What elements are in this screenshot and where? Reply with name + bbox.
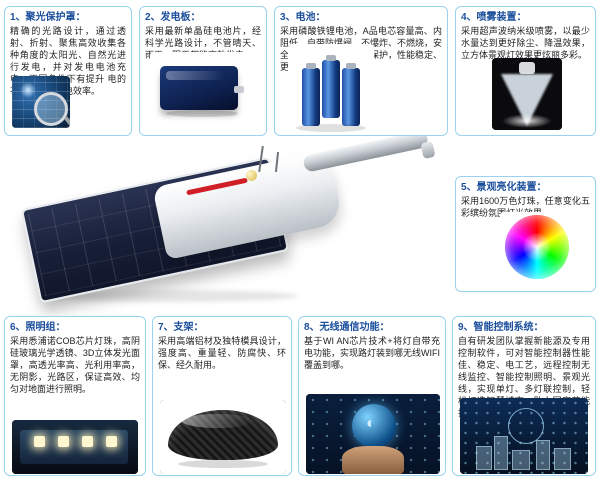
wifi-globe-hand-photo: ◐ bbox=[306, 394, 440, 474]
card-1-title: 1、聚光保护罩： bbox=[10, 11, 126, 24]
street-lamp-illustration bbox=[18, 140, 438, 310]
carbon-bracket-photo bbox=[160, 400, 286, 474]
diagram-canvas: 1、聚光保护罩： 精确的光路设计，通过透射、折射、聚焦高效收集各种角度的太阳光、… bbox=[0, 0, 600, 481]
cob-chip-photo bbox=[12, 420, 138, 474]
card-6-title: 6、照明组： bbox=[10, 321, 140, 334]
pole-cap bbox=[420, 141, 435, 159]
smart-city-network-photo bbox=[460, 398, 588, 474]
card-7-title: 7、支架： bbox=[158, 321, 286, 334]
lamp-pole bbox=[302, 130, 429, 173]
spray-lamp-photo bbox=[492, 58, 562, 130]
card-4-title: 4、喷雾装置： bbox=[461, 11, 590, 24]
battery-pack-photo bbox=[150, 52, 250, 128]
card-4-body: 采用超声波纳米级喷雾，以最少水量达到更好除尘、降温效果，立方体景观灯效果更炫丽多… bbox=[461, 25, 590, 61]
card-8-title: 8、无线通信功能： bbox=[304, 321, 440, 334]
card-8-body: 基于WI AN芯片技术+将灯自带充电功能，实现路灯装到哪无线WIFI覆盖到哪。 bbox=[304, 335, 440, 371]
card-7-body: 采用高端铝材及独特模具设计，强度高、重量轻、防腐快、环保、经久耐用。 bbox=[158, 335, 286, 371]
18650-cells-photo bbox=[288, 44, 374, 132]
card-9-title: 9、智能控制系统： bbox=[458, 321, 590, 334]
card-6-body: 采用悉浦诺COB芯片灯珠，高阴硅玻璃光学透镜、3D立体发光面罩，高透光率高、光利… bbox=[10, 335, 140, 395]
card-2-title: 2、发电板： bbox=[145, 11, 261, 24]
card-5-title: 5、景观亮化装置： bbox=[461, 181, 590, 194]
rgb-color-wheel bbox=[500, 212, 574, 286]
card-3-title: 3、电池： bbox=[280, 11, 442, 24]
solar-cell-macro-photo bbox=[12, 76, 70, 128]
wifi-icon: ◐ bbox=[366, 416, 376, 432]
